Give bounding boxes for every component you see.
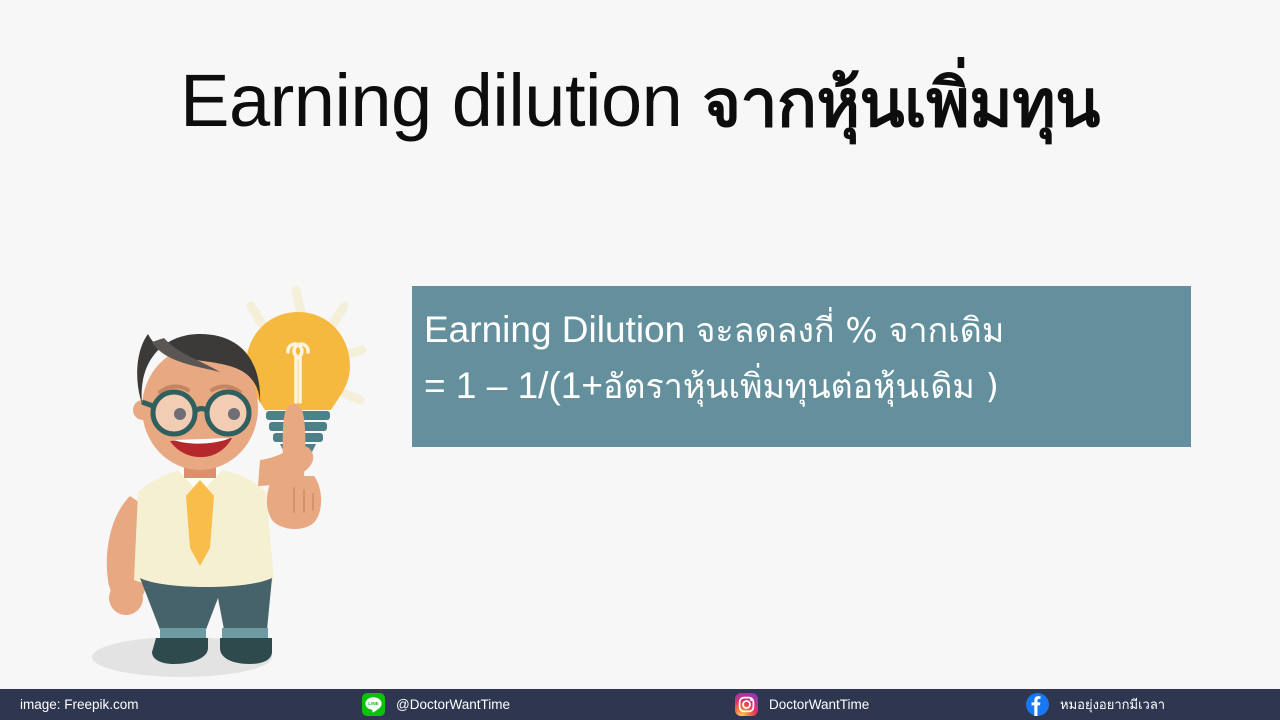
facebook-icon bbox=[1026, 693, 1049, 716]
footer-image-credit: image: Freepik.com bbox=[20, 689, 139, 720]
footer-facebook-account[interactable]: หมอยุ่งอยากมีเวลา bbox=[1026, 689, 1165, 720]
svg-text:LINE: LINE bbox=[368, 701, 378, 706]
page-title: Earning dilution จากหุ้นเพิ่มทุน bbox=[0, 64, 1280, 138]
eye-right bbox=[228, 408, 240, 420]
footer-facebook-label: หมอยุ่งอยากมีเวลา bbox=[1060, 694, 1165, 715]
slide-canvas: Earning dilution จากหุ้นเพิ่มทุน bbox=[0, 0, 1280, 720]
eye-left bbox=[174, 408, 186, 420]
formula-line-1-latin: Earning Dilution bbox=[424, 309, 695, 350]
formula-line-2-latin: = 1 – 1/(1+ bbox=[424, 365, 603, 406]
page-title-thai: จากหุ้นเพิ่มทุน bbox=[702, 65, 1100, 142]
formula-line-2-thai: อัตราหุ้นเพิ่มทุนต่อหุ้นเดิม ) bbox=[603, 367, 999, 407]
footer-image-credit-label: image: Freepik.com bbox=[20, 697, 139, 712]
footer-instagram-label: DoctorWantTime bbox=[769, 697, 869, 712]
line-icon: LINE bbox=[362, 693, 385, 716]
footer-line-label: @DoctorWantTime bbox=[396, 697, 510, 712]
formula-line-2: = 1 – 1/(1+อัตราหุ้นเพิ่มทุนต่อหุ้นเดิม … bbox=[424, 358, 1177, 414]
formula-line-1: Earning Dilution จะลดลงกี่ % จากเดิม bbox=[424, 302, 1177, 358]
formula-line-1-thai: จะลดลงกี่ % จากเดิม bbox=[695, 311, 1004, 351]
footer-instagram-account[interactable]: DoctorWantTime bbox=[735, 689, 869, 720]
footer-line-account[interactable]: LINE @DoctorWantTime bbox=[362, 689, 510, 720]
formula-callout-box: Earning Dilution จะลดลงกี่ % จากเดิม = 1… bbox=[412, 286, 1191, 447]
left-hand bbox=[109, 581, 143, 615]
instagram-icon bbox=[735, 693, 758, 716]
footer-bar: image: Freepik.com LINE @DoctorWantTime bbox=[0, 689, 1280, 720]
page-title-latin: Earning dilution bbox=[180, 59, 702, 142]
illustration-man-with-lightbulb bbox=[60, 280, 410, 680]
